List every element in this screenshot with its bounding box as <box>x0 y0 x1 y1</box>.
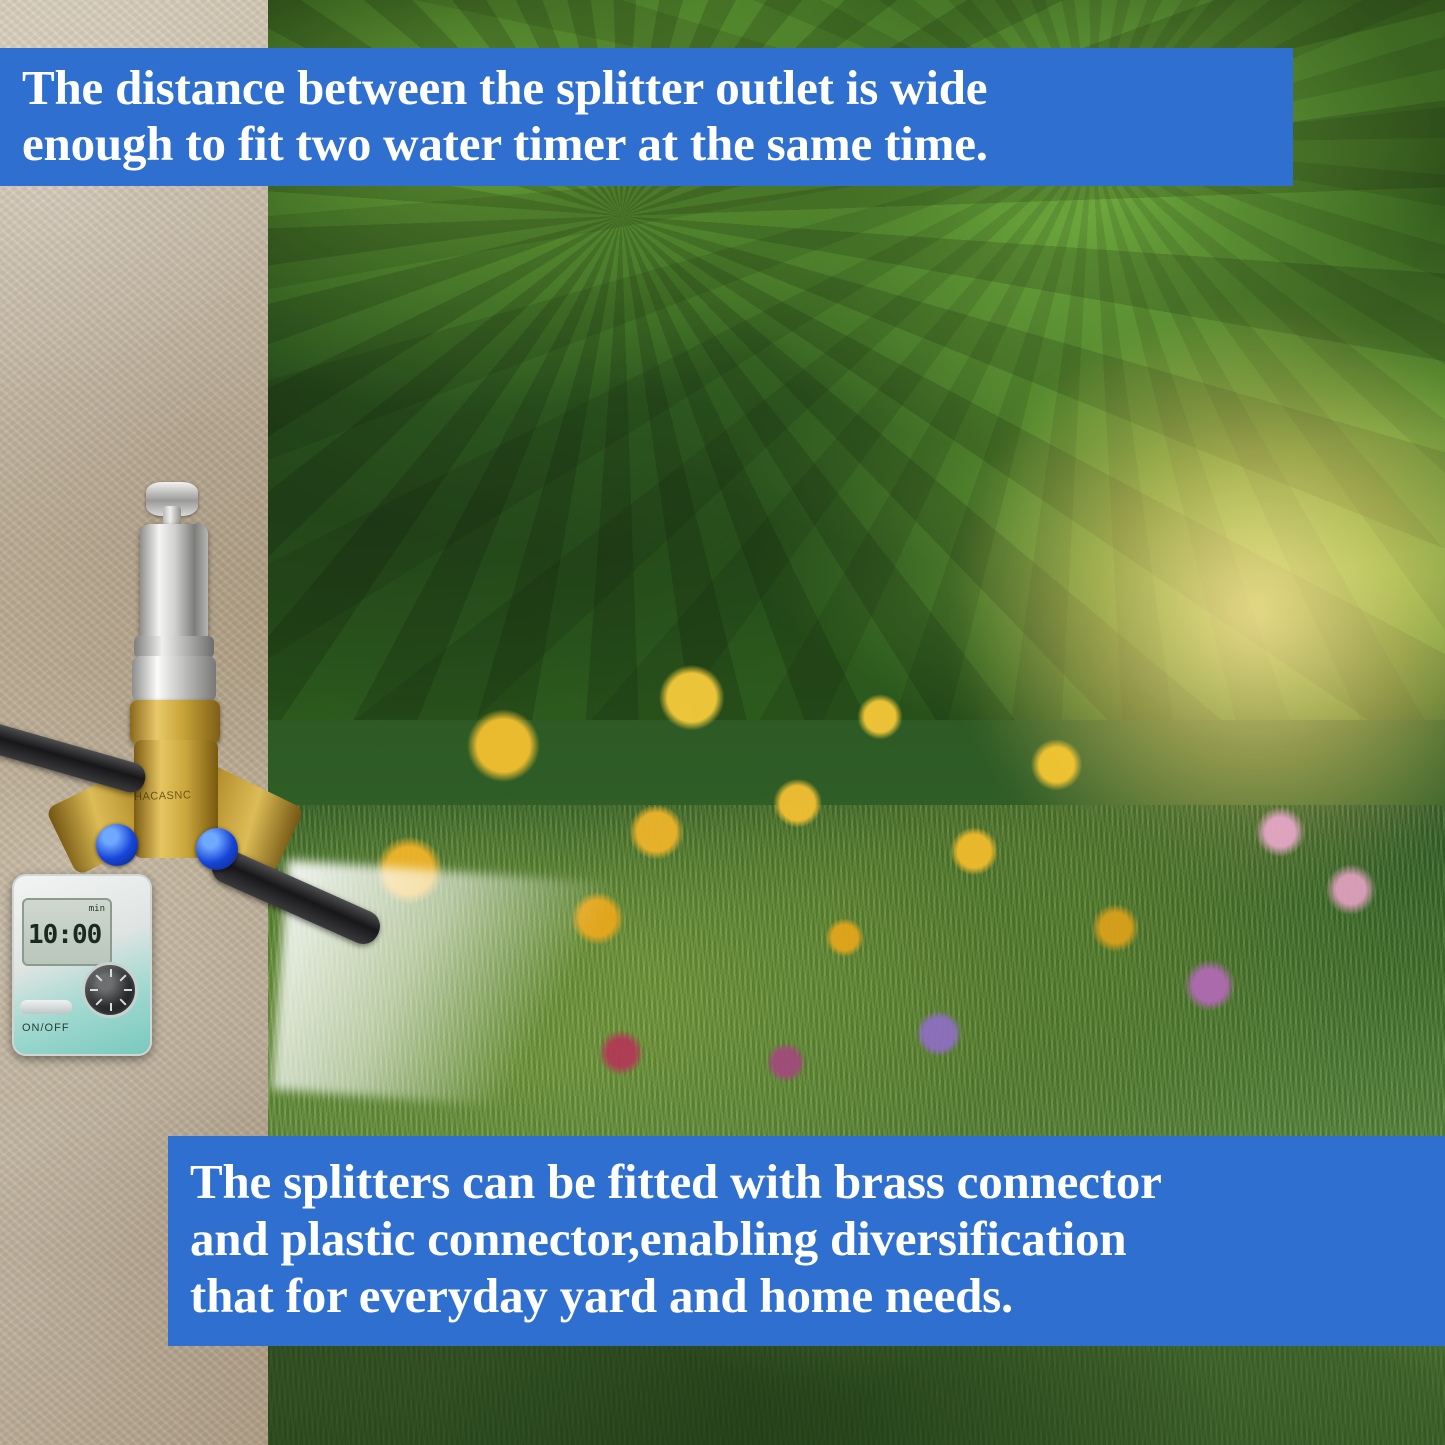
caption-banner-bottom: The splitters can be fitted with brass c… <box>168 1136 1445 1346</box>
faucet-collar-lower <box>132 656 216 702</box>
caption-top-line-2: enough to fit two water timer at the sam… <box>22 116 1275 172</box>
caption-bottom-line-2: and plastic connector,enabling diversifi… <box>190 1211 1427 1268</box>
brass-coupling-nut <box>130 700 220 744</box>
valve-knob-left <box>96 824 138 866</box>
timer-button-label: ON/OFF <box>22 1022 70 1034</box>
faucet-collar-upper <box>134 636 214 658</box>
timer-rotary-dial <box>82 962 138 1018</box>
product-image-canvas: HACASNC min 10:00 ON/OFF The distance be… <box>0 0 1445 1445</box>
timer-power-button <box>20 1000 72 1014</box>
faucet-body <box>140 524 208 644</box>
caption-banner-top: The distance between the splitter outlet… <box>0 48 1293 186</box>
timer-lcd-screen: min 10:00 <box>22 898 112 966</box>
caption-bottom-line-3: that for everyday yard and home needs. <box>190 1268 1427 1325</box>
caption-bottom-line-1: The splitters can be fitted with brass c… <box>190 1154 1427 1211</box>
timer-unit-label: min <box>89 904 105 914</box>
brand-label: HACASNC <box>134 789 204 803</box>
valve-knob-right <box>196 828 238 870</box>
caption-top-line-1: The distance between the splitter outlet… <box>22 60 1275 116</box>
timer-time-value: 10:00 <box>28 920 101 950</box>
